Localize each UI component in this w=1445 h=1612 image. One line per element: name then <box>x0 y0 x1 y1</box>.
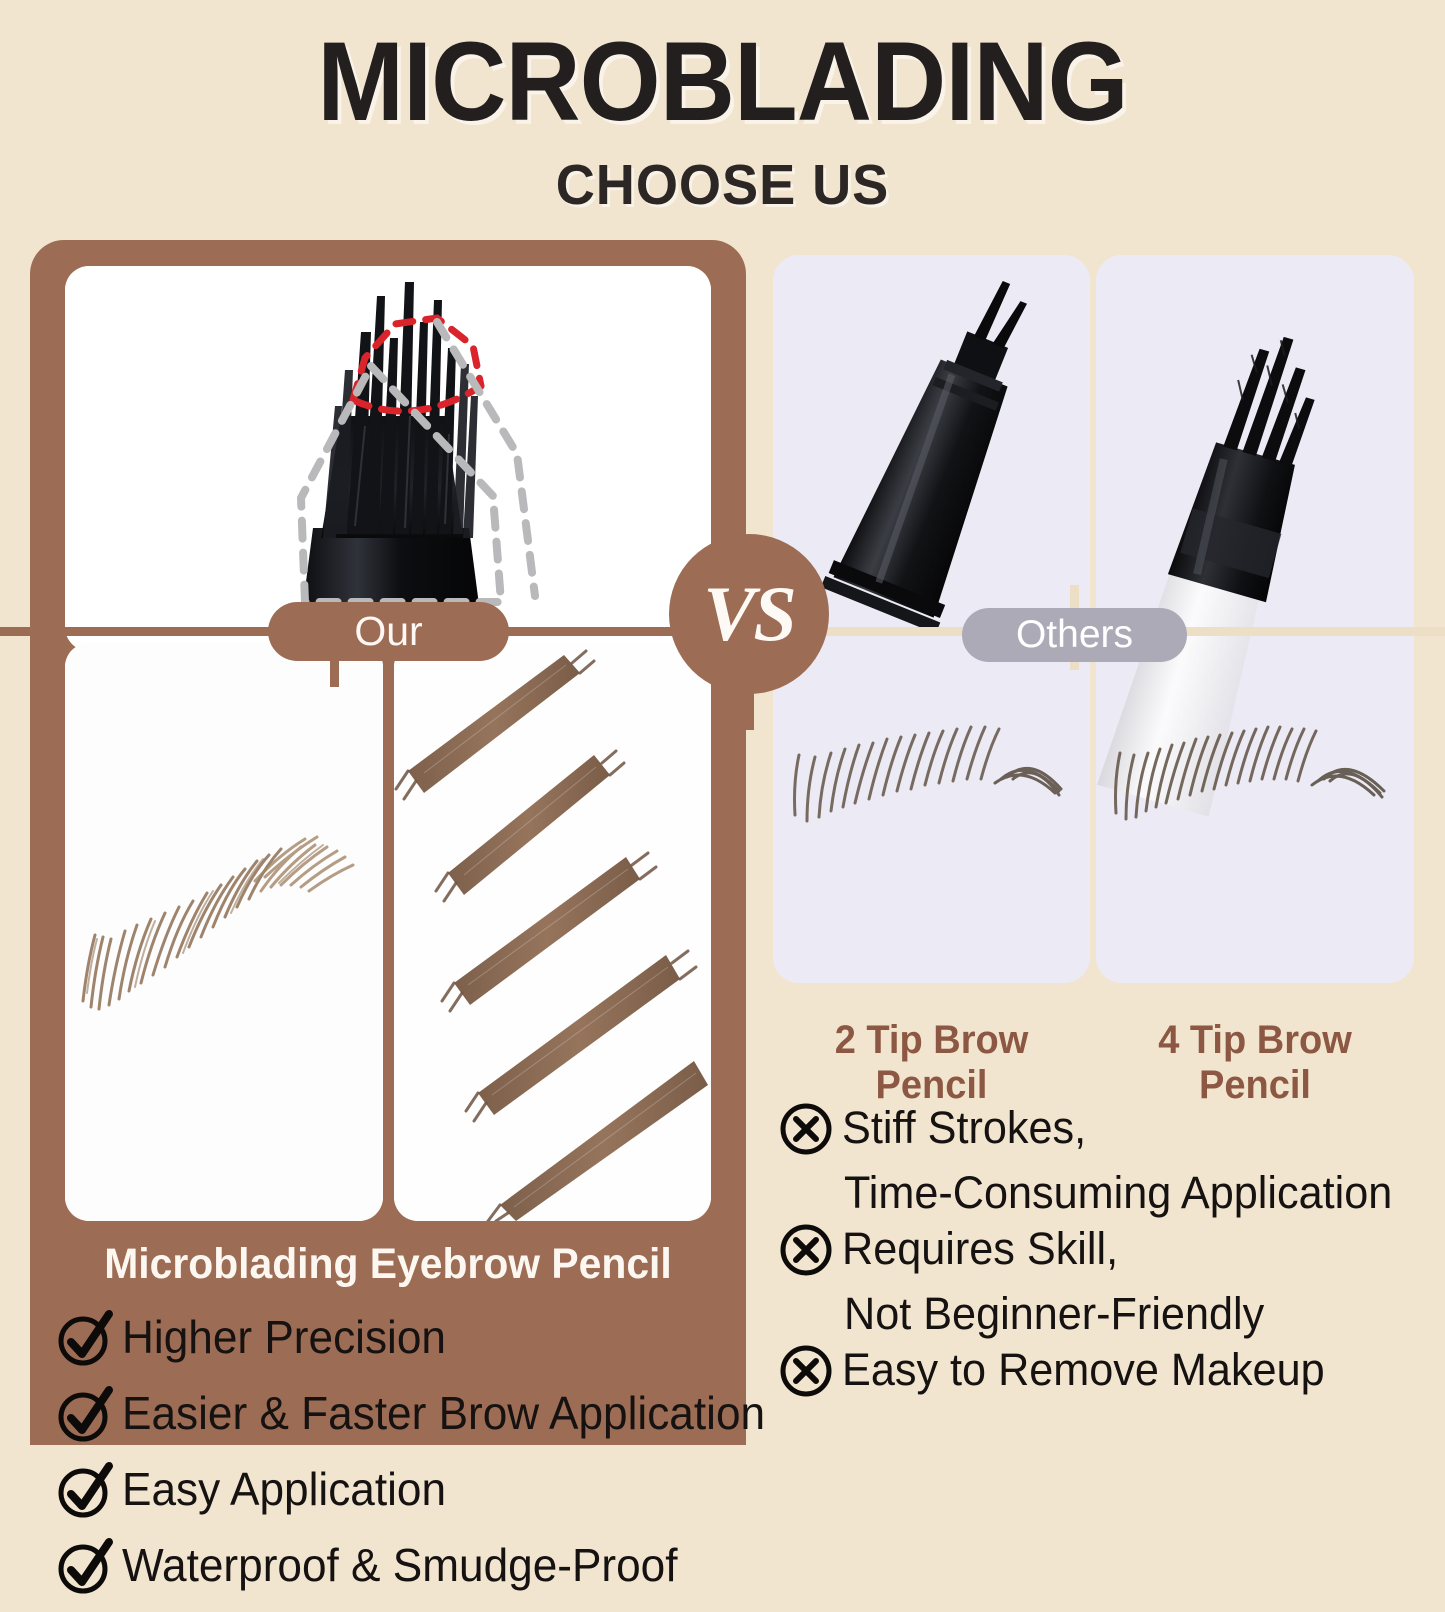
others-product-name-two-tip: 2 Tip Brow Pencil <box>781 1018 1082 1108</box>
con-label: Stiff Strokes, <box>842 1100 1086 1156</box>
vs-badge: VS <box>669 534 829 694</box>
header: MICROBLADING CHOOSE US <box>0 0 1445 218</box>
our-badge: Our <box>268 602 509 661</box>
our-product-name: Microblading Eyebrow Pencil <box>48 1240 728 1289</box>
page-subtitle: CHOOSE US <box>36 152 1409 218</box>
cons-list: Stiff Strokes, Time-Consuming Applicatio… <box>776 1100 1426 1407</box>
pro-label: Waterproof & Smudge-Proof <box>122 1536 678 1594</box>
check-circle-icon <box>54 1308 116 1375</box>
pro-label: Easy Application <box>122 1460 446 1518</box>
others-badge-label: Others <box>1016 613 1133 657</box>
con-label-continued: Time-Consuming Application <box>844 1165 1403 1221</box>
check-circle-icon <box>54 1536 116 1603</box>
con-item: Stiff Strokes, Time-Consuming Applicatio… <box>776 1100 1426 1221</box>
pro-label: Easier & Faster Brow Application <box>122 1384 765 1442</box>
pro-item: Easy Application <box>54 1460 754 1522</box>
pro-item: Higher Precision <box>54 1308 754 1370</box>
con-label: Requires Skill, <box>842 1221 1118 1277</box>
our-swatches-image <box>394 643 711 1221</box>
con-item: Easy to Remove Makeup <box>776 1342 1426 1405</box>
others-badge: Others <box>962 608 1187 662</box>
pro-label: Higher Precision <box>122 1308 446 1366</box>
check-circle-icon <box>54 1384 116 1451</box>
pros-list: Higher Precision Easier & Faster Brow Ap… <box>54 1308 754 1612</box>
our-pen-tip-macro-image <box>65 266 711 651</box>
vs-badge-label: VS <box>703 569 794 659</box>
x-circle-icon <box>776 1221 836 1284</box>
con-item: Requires Skill, Not Beginner-Friendly <box>776 1221 1426 1342</box>
con-label-continued: Not Beginner-Friendly <box>844 1286 1403 1342</box>
our-brow-result-image <box>65 643 383 1221</box>
others-product-name-four-tip: 4 Tip Brow Pencil <box>1104 1018 1406 1108</box>
check-circle-icon <box>54 1460 116 1527</box>
x-circle-icon <box>776 1342 836 1405</box>
our-badge-label: Our <box>354 608 422 655</box>
our-product-panel: Microblading Eyebrow Pencil Higher Preci… <box>30 240 746 1445</box>
pro-item: Waterproof & Smudge-Proof <box>54 1536 754 1598</box>
con-label: Easy to Remove Makeup <box>842 1342 1325 1398</box>
x-circle-icon <box>776 1100 836 1163</box>
pro-item: Easier & Faster Brow Application <box>54 1384 754 1446</box>
page-title: MICROBLADING <box>51 26 1395 138</box>
